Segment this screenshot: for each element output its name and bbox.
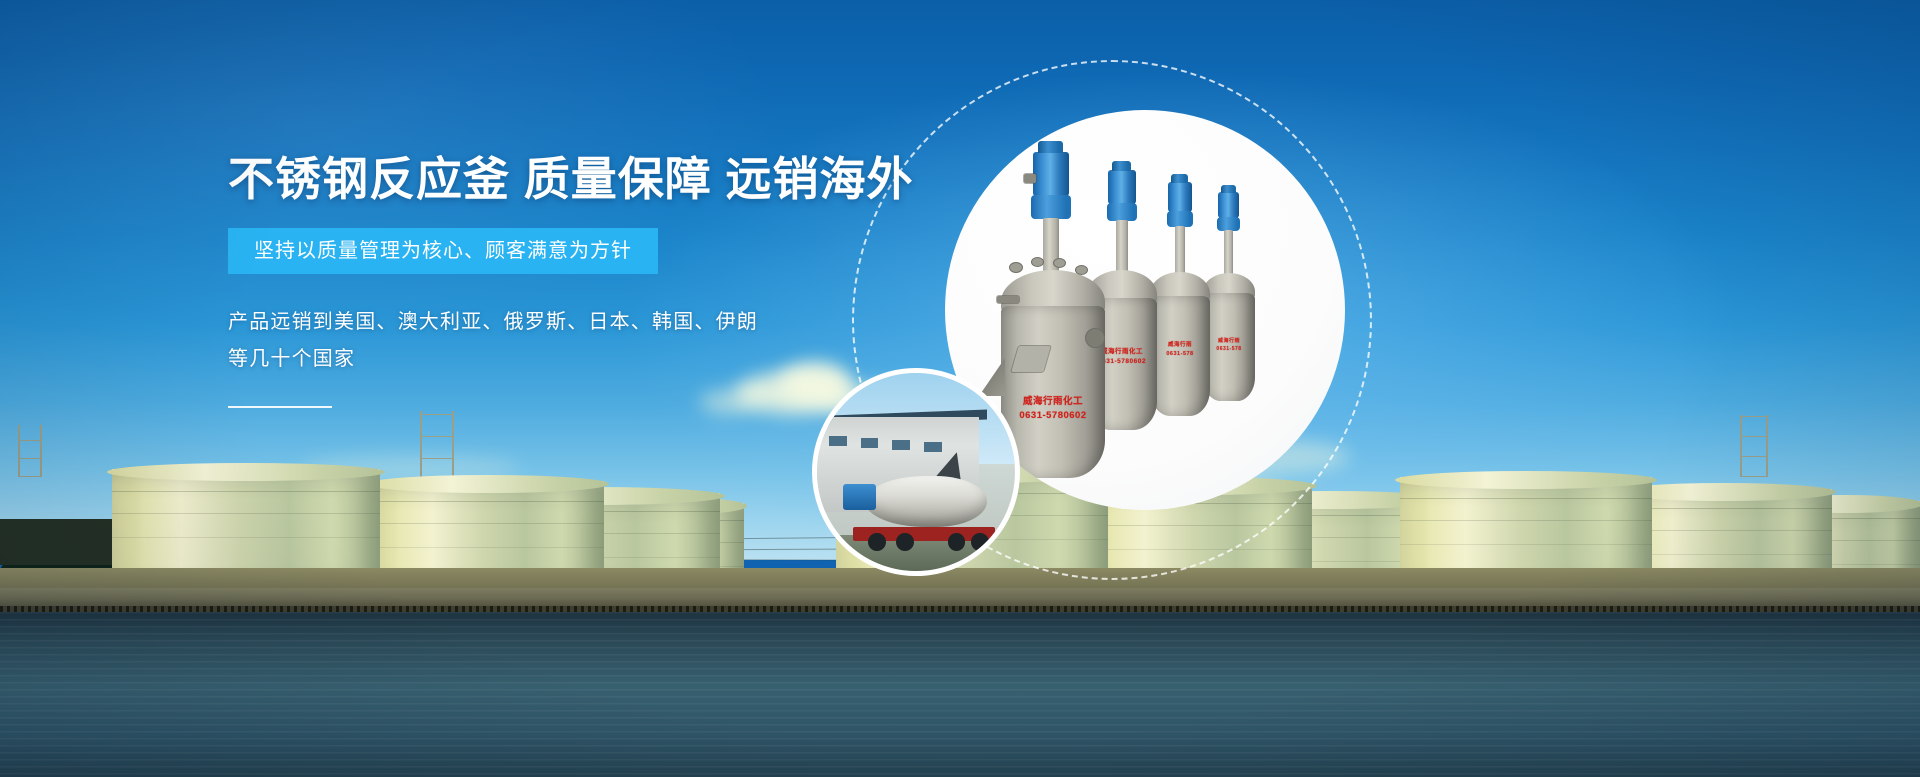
hero-copy: 不锈钢反应釜 质量保障 远销海外 坚持以质量管理为核心、顾客满意为方针 产品远销… (228, 155, 928, 408)
tagline-badge: 坚持以质量管理为核心、顾客满意为方针 (228, 228, 658, 274)
water-shimmer (0, 612, 1920, 777)
factory-window (892, 440, 910, 450)
lattice-pylon (18, 425, 42, 477)
background-building (0, 519, 120, 565)
factory-window (829, 436, 847, 446)
hero-banner: 威海行雨 0631-578 威海行雨 0631-578 威海行雨化工 0631- (0, 0, 1920, 777)
vessel-motor (843, 484, 877, 510)
divider (228, 406, 332, 408)
description: 产品远销到美国、澳大利亚、俄罗斯、日本、韩国、伊朗 等几十个国家 (228, 304, 928, 378)
lattice-pylon (420, 411, 454, 481)
vessel-phone-text: 0631-578 (1150, 351, 1210, 358)
transported-reactor-vessel (865, 476, 988, 527)
lattice-pylon (1740, 415, 1768, 477)
vessel-brand-text: 威海行雨 (1203, 338, 1255, 344)
vessel-brand-text: 威海行雨化工 (1001, 396, 1105, 408)
description-line-1: 产品远销到美国、澳大利亚、俄罗斯、日本、韩国、伊朗 (228, 304, 928, 341)
description-line-2: 等几十个国家 (228, 341, 928, 378)
vessel-phone-text: 0631-578 (1203, 346, 1255, 352)
factory-window (861, 438, 879, 448)
factory-window (924, 442, 942, 452)
vessel-brand-text: 威海行雨 (1150, 342, 1210, 349)
vessel-phone-text: 0631-5780602 (1001, 410, 1105, 422)
water (0, 612, 1920, 777)
page-title: 不锈钢反应釜 质量保障 远销海外 (228, 155, 928, 205)
